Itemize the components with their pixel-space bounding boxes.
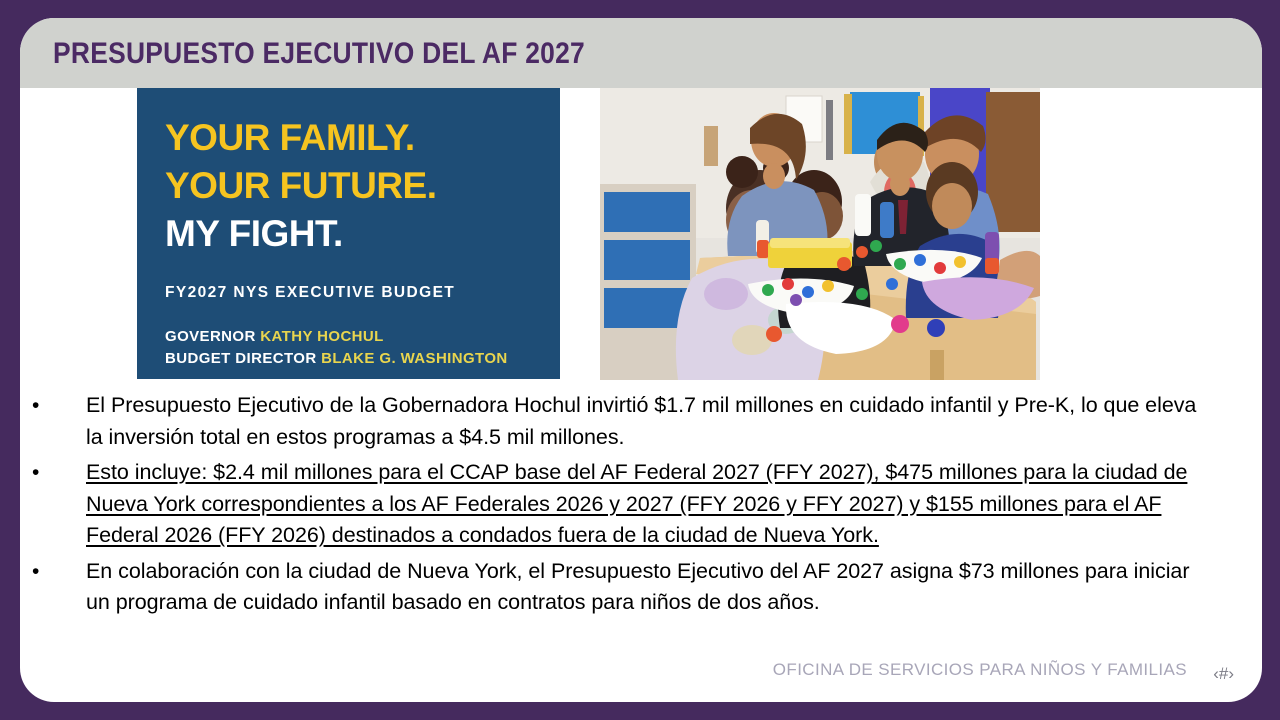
classroom-photo xyxy=(600,88,1040,380)
bullet-text: En colaboración con la ciudad de Nueva Y… xyxy=(86,556,1218,619)
budget-line-1: YOUR FAMILY. xyxy=(165,114,560,162)
director-label: BUDGET DIRECTOR xyxy=(165,350,317,367)
budget-line-3: MY FIGHT. xyxy=(165,210,560,258)
bullet-text: Esto incluye: $2.4 mil millones para el … xyxy=(86,457,1218,552)
bullet-list: • El Presupuesto Ejecutivo de la Goberna… xyxy=(20,390,1262,623)
page-title: PRESUPUESTO EJECUTIVO DEL AF 2027 xyxy=(53,37,585,71)
classroom-photo-illustration xyxy=(600,88,1040,380)
slide-root: PRESUPUESTO EJECUTIVO DEL AF 2027 YOUR F… xyxy=(0,0,1280,720)
governor-name: KATHY HOCHUL xyxy=(260,328,383,345)
slide-card: PRESUPUESTO EJECUTIVO DEL AF 2027 YOUR F… xyxy=(20,18,1262,702)
budget-credits: GOVERNOR KATHY HOCHUL BUDGET DIRECTOR BL… xyxy=(165,326,560,370)
footer-organization: OFICINA DE SERVICIOS PARA NIÑOS Y FAMILI… xyxy=(773,660,1187,680)
budget-subtitle: FY2027 NYS EXECUTIVE BUDGET xyxy=(165,284,560,302)
bullet-text: El Presupuesto Ejecutivo de la Gobernado… xyxy=(86,390,1218,453)
director-name: BLAKE G. WASHINGTON xyxy=(321,350,508,367)
bullet-marker: • xyxy=(20,390,86,453)
list-item: • El Presupuesto Ejecutivo de la Goberna… xyxy=(20,390,1262,453)
list-item: • En colaboración con la ciudad de Nueva… xyxy=(20,556,1262,619)
director-credit: BUDGET DIRECTOR BLAKE G. WASHINGTON xyxy=(165,348,560,370)
budget-line-2: YOUR FUTURE. xyxy=(165,162,560,210)
page-number-placeholder: ‹#› xyxy=(1213,664,1234,684)
list-item: • Esto incluye: $2.4 mil millones para e… xyxy=(20,457,1262,552)
governor-label: GOVERNOR xyxy=(165,328,256,345)
bullet-marker: • xyxy=(20,457,86,552)
governor-credit: GOVERNOR KATHY HOCHUL xyxy=(165,326,560,348)
bullet-marker: • xyxy=(20,556,86,619)
budget-cover-graphic: YOUR FAMILY. YOUR FUTURE. MY FIGHT. FY20… xyxy=(137,88,560,379)
title-band: PRESUPUESTO EJECUTIVO DEL AF 2027 xyxy=(20,18,1262,88)
media-row: YOUR FAMILY. YOUR FUTURE. MY FIGHT. FY20… xyxy=(20,88,1262,384)
